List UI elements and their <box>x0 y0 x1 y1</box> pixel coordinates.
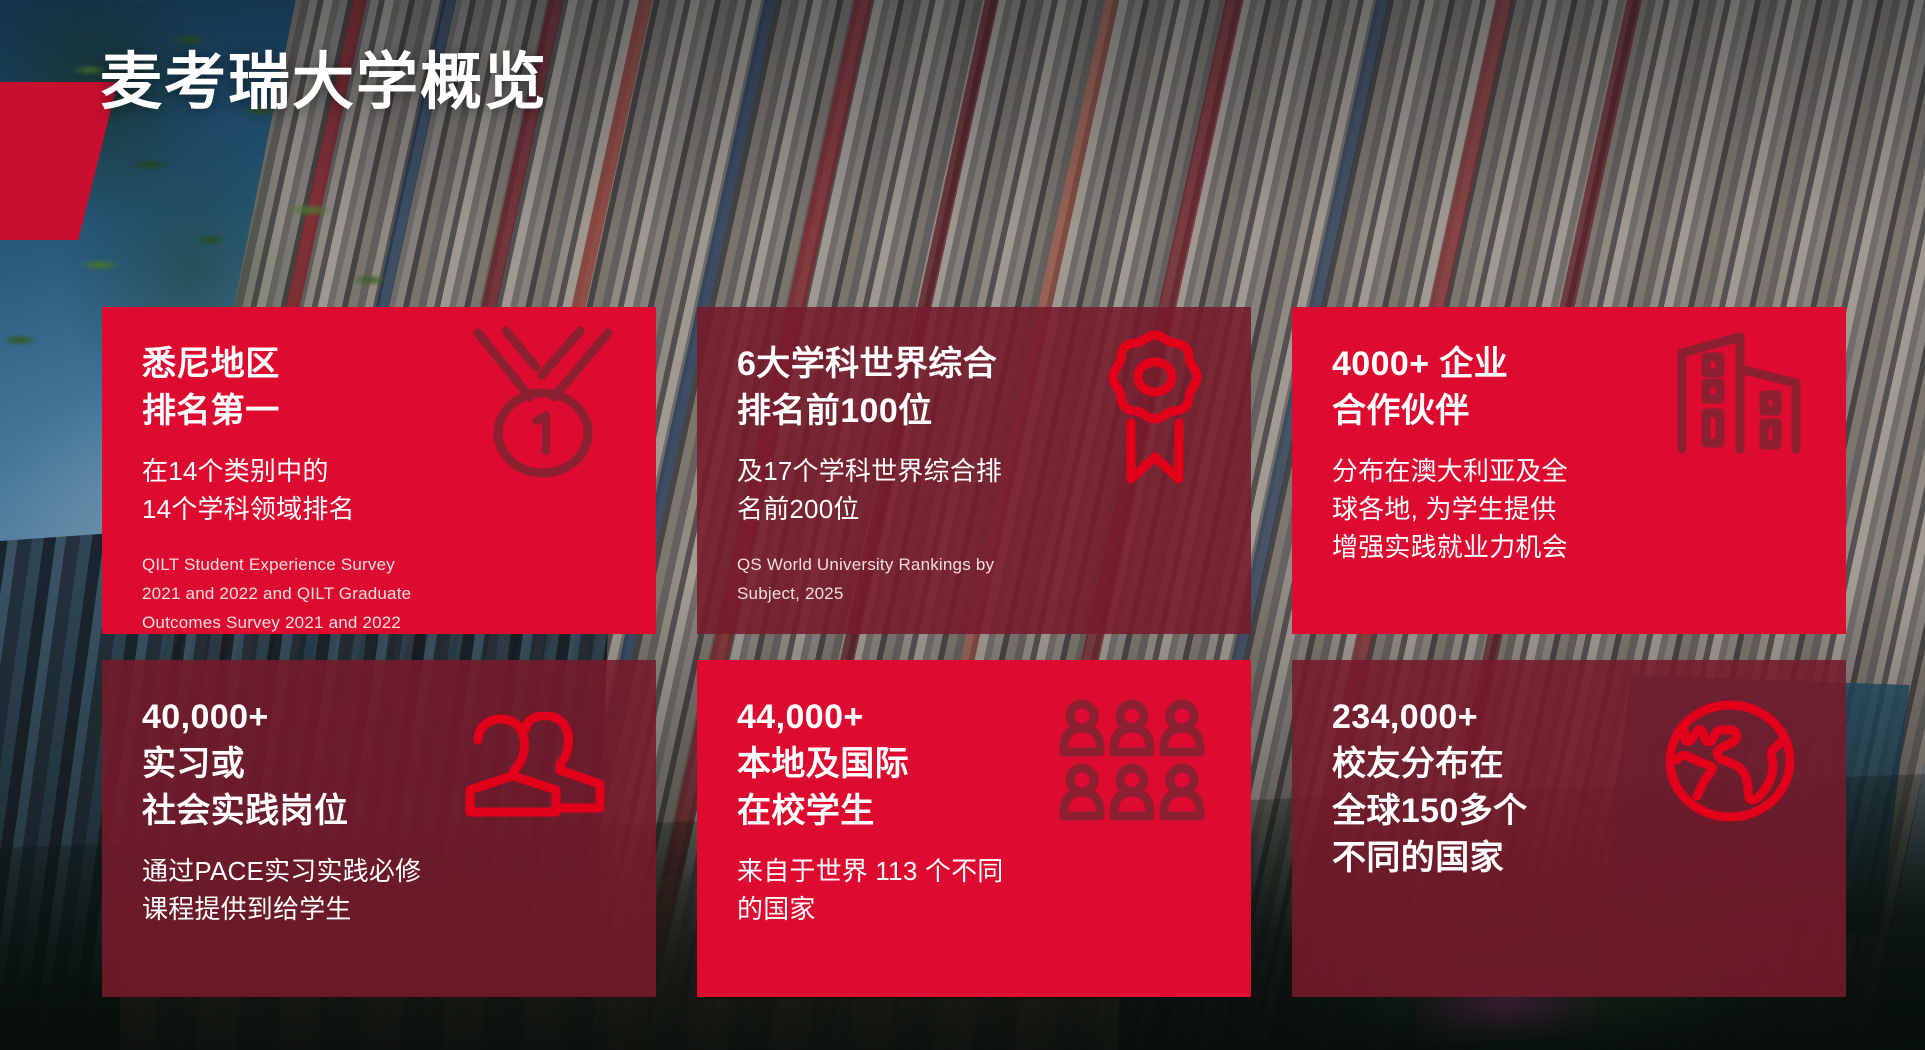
card-subtext: 分布在澳大利亚及全 球各地, 为学生提供 增强实践就业力机会 <box>1332 452 1732 566</box>
stat-card-enrolled-students[interactable]: 44,000+ 本地及国际 在校学生 来自于世界 113 个不同 的国家 <box>697 660 1251 997</box>
card-heading: 4000+ 企业 合作伙伴 <box>1332 341 1722 435</box>
card-subtext: 在14个类别中的 14个学科领域排名 <box>142 452 542 528</box>
card-subtext: 来自于世界 113 个不同 的国家 <box>737 852 1137 928</box>
stat-card-top-100-subjects[interactable]: 6大学科世界综合 排名前100位 及17个学科世界综合排 名前200位 QS W… <box>697 307 1251 634</box>
slide-root: 麦考瑞大学概览 悉尼地区 排名第一 在14个类别中的 14个学科领域排名 QIL… <box>0 0 1925 1050</box>
page-title: 麦考瑞大学概览 <box>100 52 548 114</box>
card-heading: 40,000+ 实习或 社会实践岗位 <box>142 694 532 835</box>
card-source: QS World University Rankings by Subject,… <box>737 550 1147 608</box>
card-subtext: 及17个学科世界综合排 名前200位 <box>737 452 1137 528</box>
card-heading: 悉尼地区 排名第一 <box>142 341 532 435</box>
stat-card-global-alumni[interactable]: 234,000+ 校友分布在 全球150多个 不同的国家 <box>1292 660 1846 997</box>
stat-card-internship-placements[interactable]: 40,000+ 实习或 社会实践岗位 通过PACE实习实践必修 课程提供到给学生 <box>102 660 656 997</box>
card-source: QILT Student Experience Survey 2021 and … <box>142 550 552 634</box>
card-heading: 6大学科世界综合 排名前100位 <box>737 341 1167 435</box>
stat-card-industry-partners[interactable]: 4000+ 企业 合作伙伴 分布在澳大利亚及全 球各地, 为学生提供 增强实践就… <box>1292 307 1846 634</box>
card-subtext: 通过PACE实习实践必修 课程提供到给学生 <box>142 852 542 928</box>
stat-card-sydney-rank-1[interactable]: 悉尼地区 排名第一 在14个类别中的 14个学科领域排名 QILT Studen… <box>102 307 656 634</box>
stats-card-grid: 悉尼地区 排名第一 在14个类别中的 14个学科领域排名 QILT Studen… <box>102 307 1846 997</box>
card-heading: 44,000+ 本地及国际 在校学生 <box>737 694 1127 835</box>
card-heading: 234,000+ 校友分布在 全球150多个 不同的国家 <box>1332 694 1722 882</box>
